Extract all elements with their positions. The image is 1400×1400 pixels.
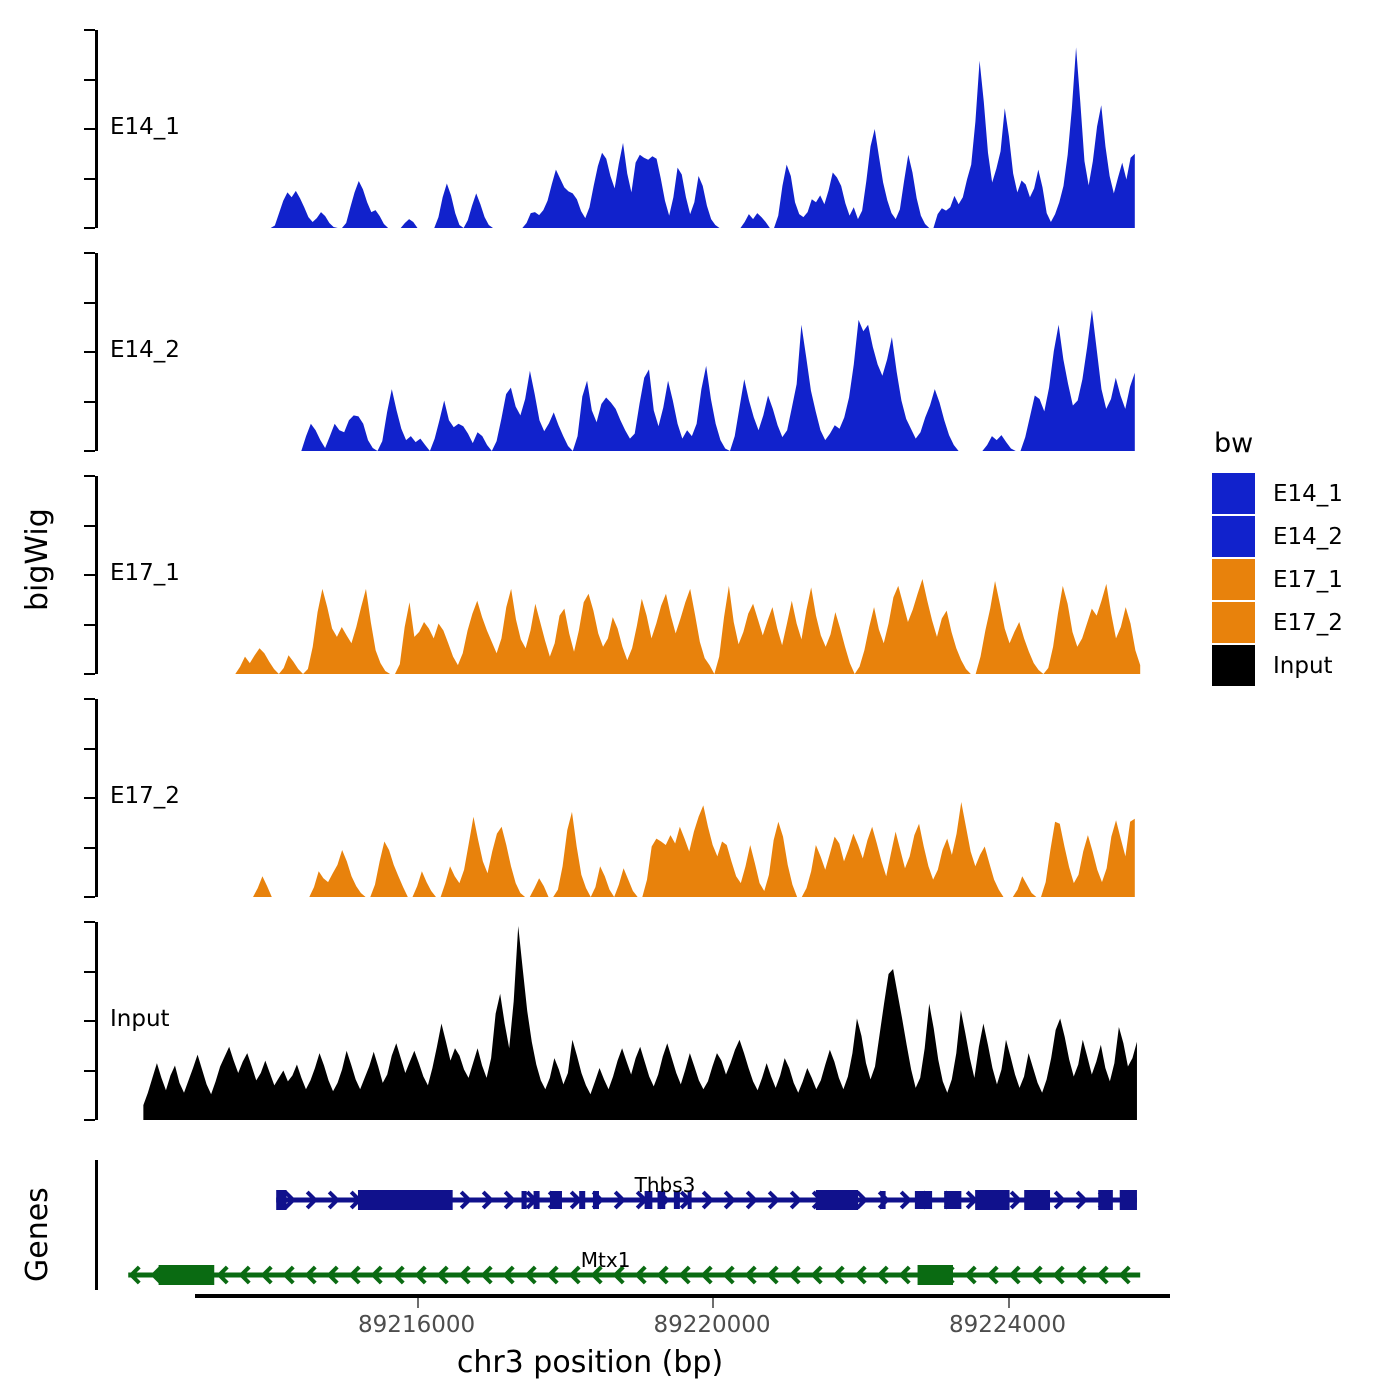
- x-tick-mark: [1008, 1298, 1010, 1308]
- gene-exon: [276, 1190, 286, 1210]
- legend-color-swatch: [1212, 559, 1255, 600]
- y-tick-mark: [84, 1119, 95, 1121]
- track-label-e14_2: E14_2: [110, 337, 180, 363]
- gene-exon: [915, 1191, 932, 1209]
- y-tick-mark: [84, 302, 95, 304]
- legend-items: E14_1E14_2E17_1E17_2Input: [1212, 473, 1392, 686]
- legend: bw E14_1E14_2E17_1E17_2Input: [1212, 428, 1392, 688]
- legend-color-swatch: [1212, 602, 1255, 643]
- legend-item-label: E14_1: [1273, 481, 1343, 507]
- x-tick-label: 89216000: [358, 1312, 475, 1338]
- track-label-input: Input: [110, 1006, 170, 1032]
- legend-item-e17_1[interactable]: E17_1: [1212, 559, 1392, 600]
- x-tick-label: 89220000: [653, 1312, 770, 1338]
- y-tick-mark: [84, 921, 95, 923]
- y-tick-mark: [84, 79, 95, 81]
- track-label-e14_1: E14_1: [110, 114, 180, 140]
- y-tick-mark: [84, 698, 95, 700]
- x-tick-mark: [712, 1298, 714, 1308]
- gene-exon: [358, 1190, 453, 1210]
- genes-panel: Thbs3Mtx1: [0, 1155, 1180, 1295]
- y-tick-mark: [84, 525, 95, 527]
- y-tick-mark: [84, 252, 95, 254]
- track-label-e17_1: E17_1: [110, 560, 180, 586]
- legend-item-label: E14_2: [1273, 524, 1343, 550]
- y-tick-mark: [84, 178, 95, 180]
- gene-exon: [522, 1191, 527, 1209]
- legend-item-label: E17_1: [1273, 567, 1343, 593]
- y-tick-mark: [84, 797, 95, 799]
- gene-exon: [880, 1191, 885, 1209]
- gene-exon: [579, 1191, 585, 1209]
- y-axis-line: [95, 699, 98, 897]
- y-tick-mark: [84, 574, 95, 576]
- track-label-e17_2: E17_2: [110, 783, 180, 809]
- x-tick-mark: [417, 1298, 419, 1308]
- gene-exon: [816, 1190, 858, 1210]
- y-tick-mark: [84, 896, 95, 898]
- y-tick-mark: [84, 1020, 95, 1022]
- x-tick-label: 89224000: [949, 1312, 1066, 1338]
- y-axis-line: [95, 253, 98, 451]
- legend-color-swatch: [1212, 645, 1255, 686]
- y-tick-mark: [84, 29, 95, 31]
- y-axis-line: [95, 922, 98, 1120]
- x-axis-line: [195, 1294, 1170, 1298]
- gene-label-mtx1: Mtx1: [581, 1248, 631, 1272]
- legend-item-e14_2[interactable]: E14_2: [1212, 516, 1392, 557]
- y-tick-mark: [84, 475, 95, 477]
- y-tick-mark: [84, 450, 95, 452]
- y-tick-mark: [84, 401, 95, 403]
- legend-color-swatch: [1212, 473, 1255, 514]
- gene-exon: [534, 1191, 540, 1209]
- gene-exon: [944, 1191, 961, 1209]
- y-tick-mark: [84, 673, 95, 675]
- gene-exon: [159, 1265, 215, 1285]
- y-tick-mark: [84, 1070, 95, 1072]
- y-axis-label-bigwig: bigWig: [20, 470, 55, 650]
- y-tick-mark: [84, 971, 95, 973]
- gene-label-thbs3: Thbs3: [635, 1173, 696, 1197]
- legend-color-swatch: [1212, 516, 1255, 557]
- legend-item-e14_1[interactable]: E14_1: [1212, 473, 1392, 514]
- legend-item-label: E17_2: [1273, 610, 1343, 636]
- y-axis-line: [95, 30, 98, 228]
- genome-browser-figure: bigWig Genes 01234E14_101234E14_201234E1…: [0, 0, 1400, 1400]
- gene-exon: [550, 1191, 562, 1209]
- gene-models-svg: [0, 1155, 1180, 1295]
- gene-exon: [918, 1265, 953, 1285]
- legend-item-label: Input: [1273, 653, 1333, 679]
- y-tick-mark: [84, 624, 95, 626]
- y-tick-mark: [84, 748, 95, 750]
- y-tick-mark: [84, 351, 95, 353]
- gene-exon: [975, 1190, 1009, 1210]
- gene-exon: [1098, 1190, 1113, 1210]
- y-tick-mark: [84, 227, 95, 229]
- gene-exon: [593, 1191, 599, 1209]
- x-axis-title: chr3 position (bp): [0, 1345, 1180, 1380]
- y-tick-mark: [84, 847, 95, 849]
- gene-exon: [1120, 1190, 1137, 1210]
- gene-exon: [1024, 1190, 1050, 1210]
- y-tick-mark: [84, 128, 95, 130]
- legend-item-e17_2[interactable]: E17_2: [1212, 602, 1392, 643]
- legend-title: bw: [1214, 428, 1392, 459]
- y-axis-line: [95, 476, 98, 674]
- legend-item-input[interactable]: Input: [1212, 645, 1392, 686]
